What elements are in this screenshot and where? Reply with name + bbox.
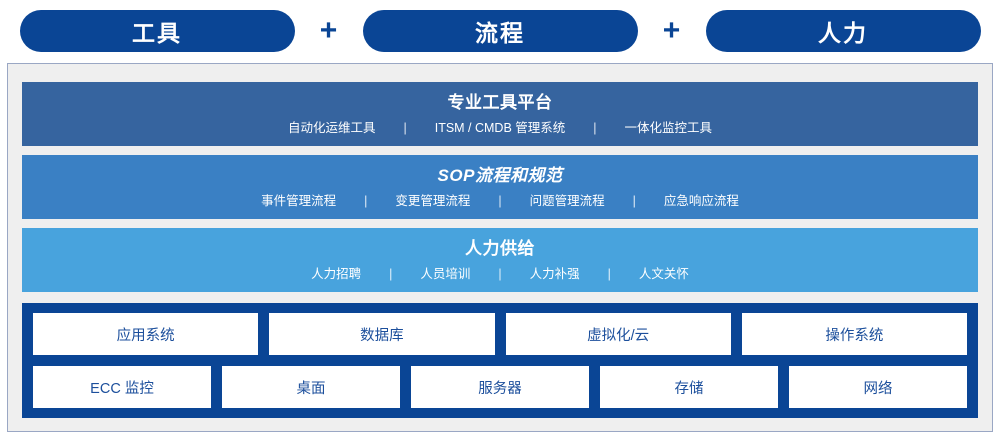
layer-item[interactable]: 人员培训 xyxy=(406,268,484,281)
layer-item[interactable]: 事件管理流程 xyxy=(247,195,350,208)
layer-band-tools[interactable]: 专业工具平台 自动化运维工具 | ITSM / CMDB 管理系统 | 一体化监… xyxy=(22,82,978,146)
item-separator: | xyxy=(579,122,610,135)
item-separator: | xyxy=(484,268,515,281)
layer-title-tools: 专业工具平台 xyxy=(448,94,553,111)
plus-separator-1: + xyxy=(295,16,363,46)
pill-tools[interactable]: 工具 xyxy=(20,10,295,52)
layer-item[interactable]: 人力招聘 xyxy=(297,268,375,281)
layer-band-people[interactable]: 人力供给 人力招聘 | 人员培训 | 人力补强 | 人文关怀 xyxy=(22,228,978,292)
infrastructure-cell[interactable]: 数据库 xyxy=(269,313,494,355)
infrastructure-row-1: 应用系统 数据库 虚拟化/云 操作系统 xyxy=(33,313,967,355)
infrastructure-cell[interactable]: 虚拟化/云 xyxy=(506,313,731,355)
infrastructure-cell[interactable]: 操作系统 xyxy=(742,313,967,355)
item-separator: | xyxy=(375,268,406,281)
item-separator: | xyxy=(350,195,381,208)
layer-item[interactable]: 变更管理流程 xyxy=(381,195,484,208)
infrastructure-cell[interactable]: 存储 xyxy=(600,366,778,408)
item-separator: | xyxy=(484,195,515,208)
pill-process-label: 流程 xyxy=(475,14,525,48)
pill-people[interactable]: 人力 xyxy=(706,10,981,52)
pill-people-label: 人力 xyxy=(818,14,868,48)
layer-item[interactable]: 自动化运维工具 xyxy=(274,122,390,135)
layer-item[interactable]: 人文关怀 xyxy=(625,268,703,281)
diagram-canvas: 工具 + 流程 + 人力 专业工具平台 自动化运维工具 | ITSM / CMD… xyxy=(0,0,1000,442)
plus-separator-2: + xyxy=(638,16,706,46)
layer-item[interactable]: 人力补强 xyxy=(516,268,594,281)
layer-item[interactable]: ITSM / CMDB 管理系统 xyxy=(421,122,580,135)
infrastructure-container: 应用系统 数据库 虚拟化/云 操作系统 ECC 监控 桌面 服务器 存储 网络 xyxy=(22,303,978,418)
item-separator: | xyxy=(594,268,625,281)
infrastructure-row-2: ECC 监控 桌面 服务器 存储 网络 xyxy=(33,366,967,408)
layer-title-people: 人力供给 xyxy=(465,240,535,257)
layer-item[interactable]: 问题管理流程 xyxy=(516,195,619,208)
header-pill-row: 工具 + 流程 + 人力 xyxy=(0,0,1000,62)
pill-tools-label: 工具 xyxy=(132,14,182,48)
infrastructure-cell[interactable]: ECC 监控 xyxy=(33,366,211,408)
infrastructure-cell[interactable]: 应用系统 xyxy=(33,313,258,355)
infrastructure-cell[interactable]: 服务器 xyxy=(411,366,589,408)
layer-items-process: 事件管理流程 | 变更管理流程 | 问题管理流程 | 应急响应流程 xyxy=(247,195,753,208)
layer-items-people: 人力招聘 | 人员培训 | 人力补强 | 人文关怀 xyxy=(297,268,703,281)
item-separator: | xyxy=(619,195,650,208)
item-separator: | xyxy=(389,122,420,135)
pill-process[interactable]: 流程 xyxy=(363,10,638,52)
infrastructure-cell[interactable]: 桌面 xyxy=(222,366,400,408)
layer-band-process[interactable]: SOP流程和规范 事件管理流程 | 变更管理流程 | 问题管理流程 | 应急响应… xyxy=(22,155,978,219)
layer-items-tools: 自动化运维工具 | ITSM / CMDB 管理系统 | 一体化监控工具 xyxy=(274,122,726,135)
layer-title-process: SOP流程和规范 xyxy=(438,167,563,184)
layer-item[interactable]: 一体化监控工具 xyxy=(611,122,727,135)
infrastructure-cell[interactable]: 网络 xyxy=(789,366,967,408)
layer-item[interactable]: 应急响应流程 xyxy=(650,195,753,208)
